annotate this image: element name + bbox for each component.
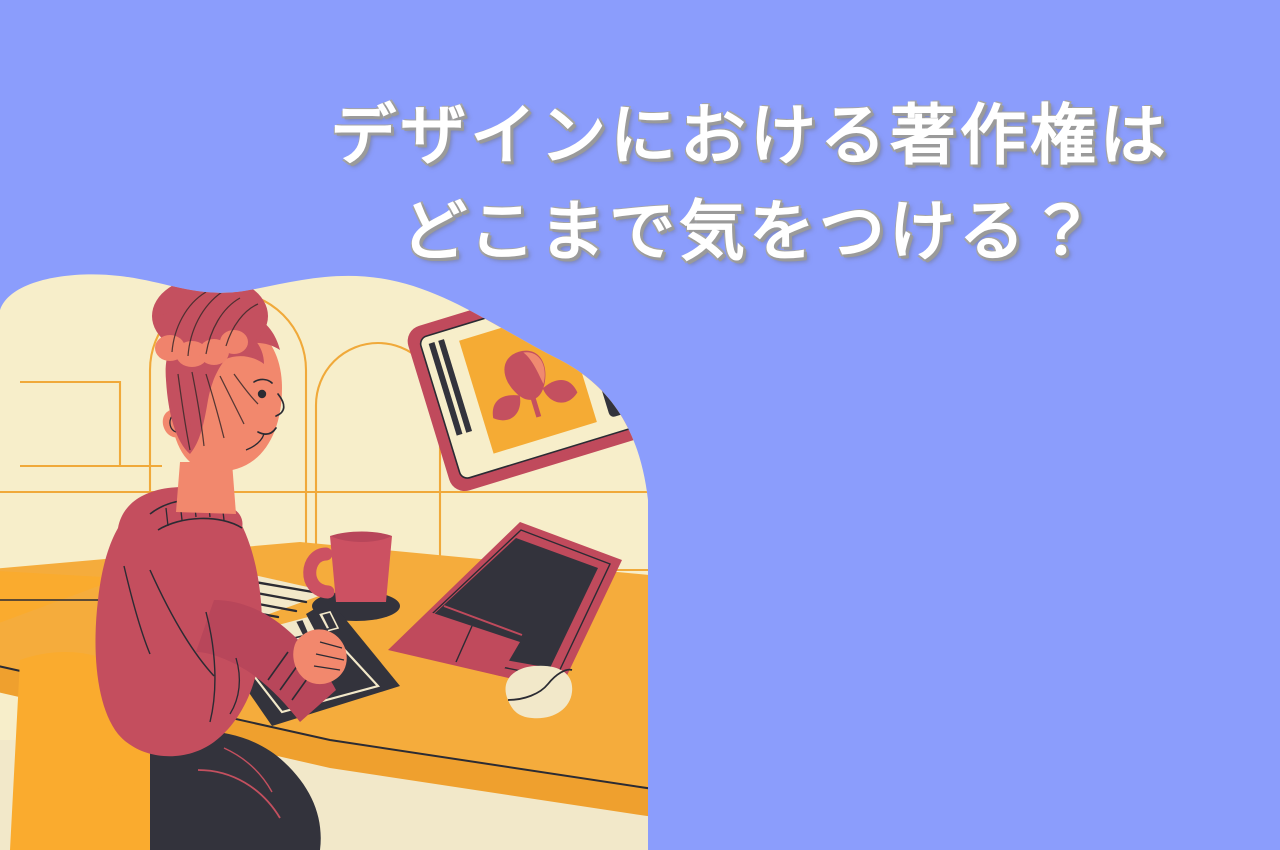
eye <box>258 390 266 398</box>
page-title: デザインにおける著作権は どこまで気をつける？ <box>250 88 1250 279</box>
illustration-female-designer-at-desk <box>0 270 660 850</box>
title-line-2: どこまで気をつける？ <box>250 184 1250 280</box>
eyecatch-canvas: デザインにおける著作権は どこまで気をつける？ <box>0 0 1280 850</box>
mug-body <box>330 536 392 602</box>
title-line-1: デザインにおける著作権は <box>250 88 1250 184</box>
